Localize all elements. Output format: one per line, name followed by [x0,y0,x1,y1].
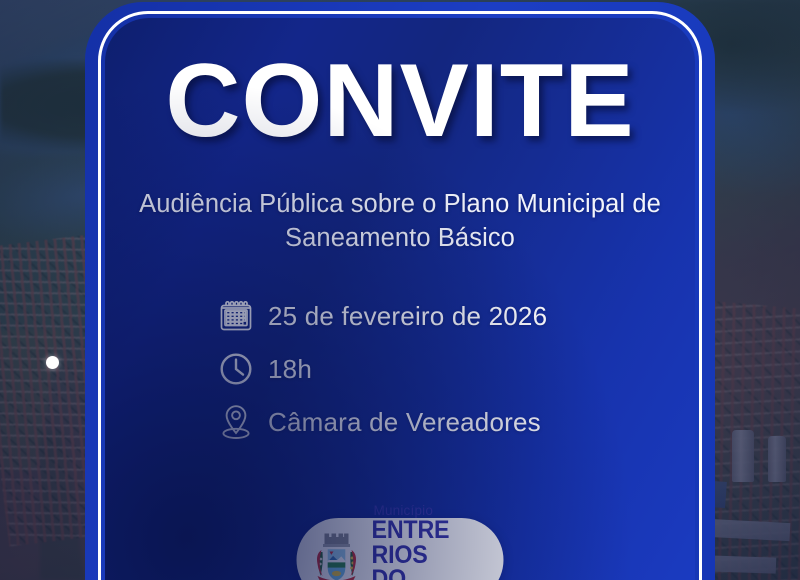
invitation-card: CONVITE Audiência Pública sobre o Plano … [85,2,715,580]
event-details: 25 de fevereiro de 2026 18h [216,290,584,449]
detail-row-time: 18h [216,343,584,396]
card-content: CONVITE Audiência Pública sobre o Plano … [105,18,695,449]
logo-line-1: ENTRE RIOS [372,518,485,567]
municipality-logo-badge: ENTRE RIOS Município ENTRE RIOS DO OESTE [297,518,504,580]
map-pin-icon [216,402,256,442]
card-panel: CONVITE Audiência Pública sobre o Plano … [105,18,695,580]
event-location: Câmara de Vereadores [268,407,541,438]
detail-row-location: Câmara de Vereadores [216,396,584,449]
event-time: 18h [268,354,312,385]
clock-icon [216,349,256,389]
detail-row-date: 25 de fevereiro de 2026 [216,290,584,343]
subtitle: Audiência Pública sobre o Plano Municipa… [127,188,673,255]
calendar-icon [216,296,256,336]
page-title: CONVITE [127,46,673,156]
logo-prefix: Município [374,504,494,518]
event-date: 25 de fevereiro de 2026 [268,301,547,332]
coat-of-arms-icon: ENTRE RIOS [309,528,365,580]
logo-line-2: DO OESTE [372,567,485,580]
decorative-dot-icon [46,356,59,369]
logo-text-block: Município ENTRE RIOS DO OESTE [372,504,494,580]
